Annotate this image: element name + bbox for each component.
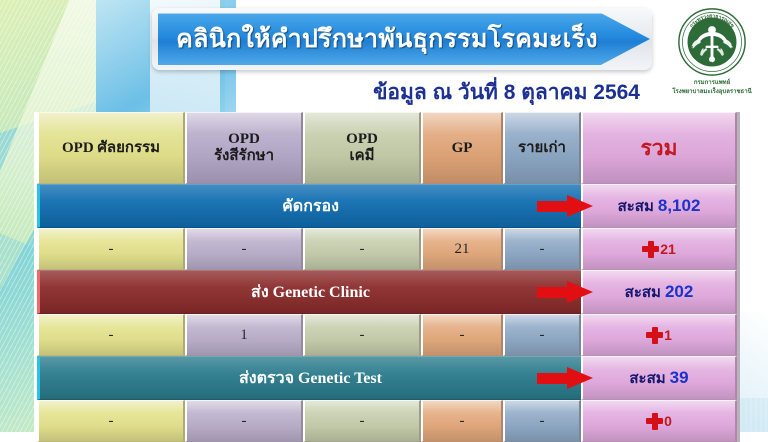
- column-header-label: OPD ศัลยกรรม: [62, 140, 160, 157]
- data-as-of-date: ข้อมูล ณ วันที่ 8 ตุลาคม 2564: [0, 76, 640, 109]
- delta-value: 21: [660, 241, 676, 257]
- table-row-genetic-clinic-values: - 1 - - - 1: [37, 314, 737, 356]
- ministry-of-public-health-seal-icon: กระทรวงสาธารณสุข MINISTRY OF PUBLIC HEAL…: [676, 6, 748, 78]
- cumulative-value: 8,102: [658, 196, 701, 215]
- column-header-label: OPD: [346, 131, 378, 148]
- cell-opd-surgery: -: [37, 228, 185, 270]
- summary-table: OPD ศัลยกรรม OPD รังสีรักษา OPD เคมี GP …: [34, 112, 740, 442]
- cell-old-cases: -: [503, 400, 581, 442]
- section-banner-label: ส่งตรวจ Genetic Test: [239, 366, 382, 391]
- section-banner-genetic-test: ส่งตรวจ Genetic Test: [37, 356, 581, 400]
- plus-cross-icon: [642, 241, 659, 258]
- cell-gp: -: [421, 314, 503, 356]
- delta-value: 1: [664, 327, 672, 343]
- cumulative-cell-screening: สะสม8,102: [581, 184, 737, 228]
- column-header-gp: GP: [421, 112, 503, 184]
- section-banner-row-genetic-test: ส่งตรวจ Genetic Test สะสม39: [37, 356, 737, 400]
- cumulative-cell-genetic-clinic: สะสม202: [581, 270, 737, 314]
- cumulative-value: 39: [670, 368, 689, 387]
- cell-total-delta: 21: [581, 228, 737, 270]
- cell-opd-chemo: -: [303, 314, 421, 356]
- column-header-opd-radiotherapy: OPD รังสีรักษา: [185, 112, 303, 184]
- cell-opd-radiotherapy: 1: [185, 314, 303, 356]
- section-banner-label: ส่ง Genetic Clinic: [251, 280, 370, 305]
- cell-opd-surgery: -: [37, 400, 185, 442]
- plus-cross-icon: [646, 413, 663, 430]
- organization-logo: กระทรวงสาธารณสุข MINISTRY OF PUBLIC HEAL…: [660, 6, 764, 96]
- column-header-label: รวม: [641, 132, 678, 165]
- column-header-sublabel: เคมี: [346, 148, 378, 165]
- cell-gp: -: [421, 400, 503, 442]
- section-banner-genetic-clinic: ส่ง Genetic Clinic: [37, 270, 581, 314]
- column-header-sublabel: รังสีรักษา: [214, 148, 274, 165]
- cumulative-cell-genetic-test: สะสม39: [581, 356, 737, 400]
- cumulative-prefix: สะสม: [629, 370, 665, 387]
- cell-opd-radiotherapy: -: [185, 400, 303, 442]
- cell-gp: 21: [421, 228, 503, 270]
- table-row-screening-values: - - - 21 - 21: [37, 228, 737, 270]
- cell-opd-chemo: -: [303, 400, 421, 442]
- cell-opd-radiotherapy: -: [185, 228, 303, 270]
- cell-opd-chemo: -: [303, 228, 421, 270]
- cell-total-delta: 0: [581, 400, 737, 442]
- section-banner-row-screening: คัดกรอง สะสม8,102: [37, 184, 737, 228]
- column-header-total: รวม: [581, 112, 737, 184]
- slide-header: คลินิกให้คำปรึกษาพันธุกรรมโรคมะเร็ง ข้อม…: [0, 0, 768, 110]
- section-banner-label: คัดกรอง: [282, 194, 339, 219]
- page-title: คลินิกให้คำปรึกษาพันธุกรรมโรคมะเร็ง: [176, 19, 632, 59]
- logo-caption-line-2: โรงพยาบาลมะเร็งอุบลราชธานี: [660, 88, 764, 96]
- column-header-label: OPD: [214, 131, 274, 148]
- delta-value: 0: [664, 413, 672, 429]
- cell-total-delta: 1: [581, 314, 737, 356]
- logo-caption-line-1: กรมการแพทย์: [660, 79, 764, 87]
- title-banner: คลินิกให้คำปรึกษาพันธุกรรมโรคมะเร็ง: [158, 13, 650, 65]
- cell-old-cases: -: [503, 314, 581, 356]
- column-header-old-cases: รายเก่า: [503, 112, 581, 184]
- cumulative-value: 202: [665, 282, 693, 301]
- cell-old-cases: -: [503, 228, 581, 270]
- cumulative-prefix: สะสม: [625, 284, 661, 301]
- column-header-opd-surgery: OPD ศัลยกรรม: [37, 112, 185, 184]
- section-banner-row-genetic-clinic: ส่ง Genetic Clinic สะสม202: [37, 270, 737, 314]
- cell-opd-surgery: -: [37, 314, 185, 356]
- table-row-genetic-test-values: - - - - - 0: [37, 400, 737, 442]
- plus-cross-icon: [646, 327, 663, 344]
- column-header-label: GP: [452, 140, 473, 157]
- section-banner-screening: คัดกรอง: [37, 184, 581, 228]
- column-header-label: รายเก่า: [518, 140, 566, 157]
- cumulative-prefix: สะสม: [618, 198, 654, 215]
- column-header-opd-chemo: OPD เคมี: [303, 112, 421, 184]
- table-header-row: OPD ศัลยกรรม OPD รังสีรักษา OPD เคมี GP …: [37, 112, 737, 184]
